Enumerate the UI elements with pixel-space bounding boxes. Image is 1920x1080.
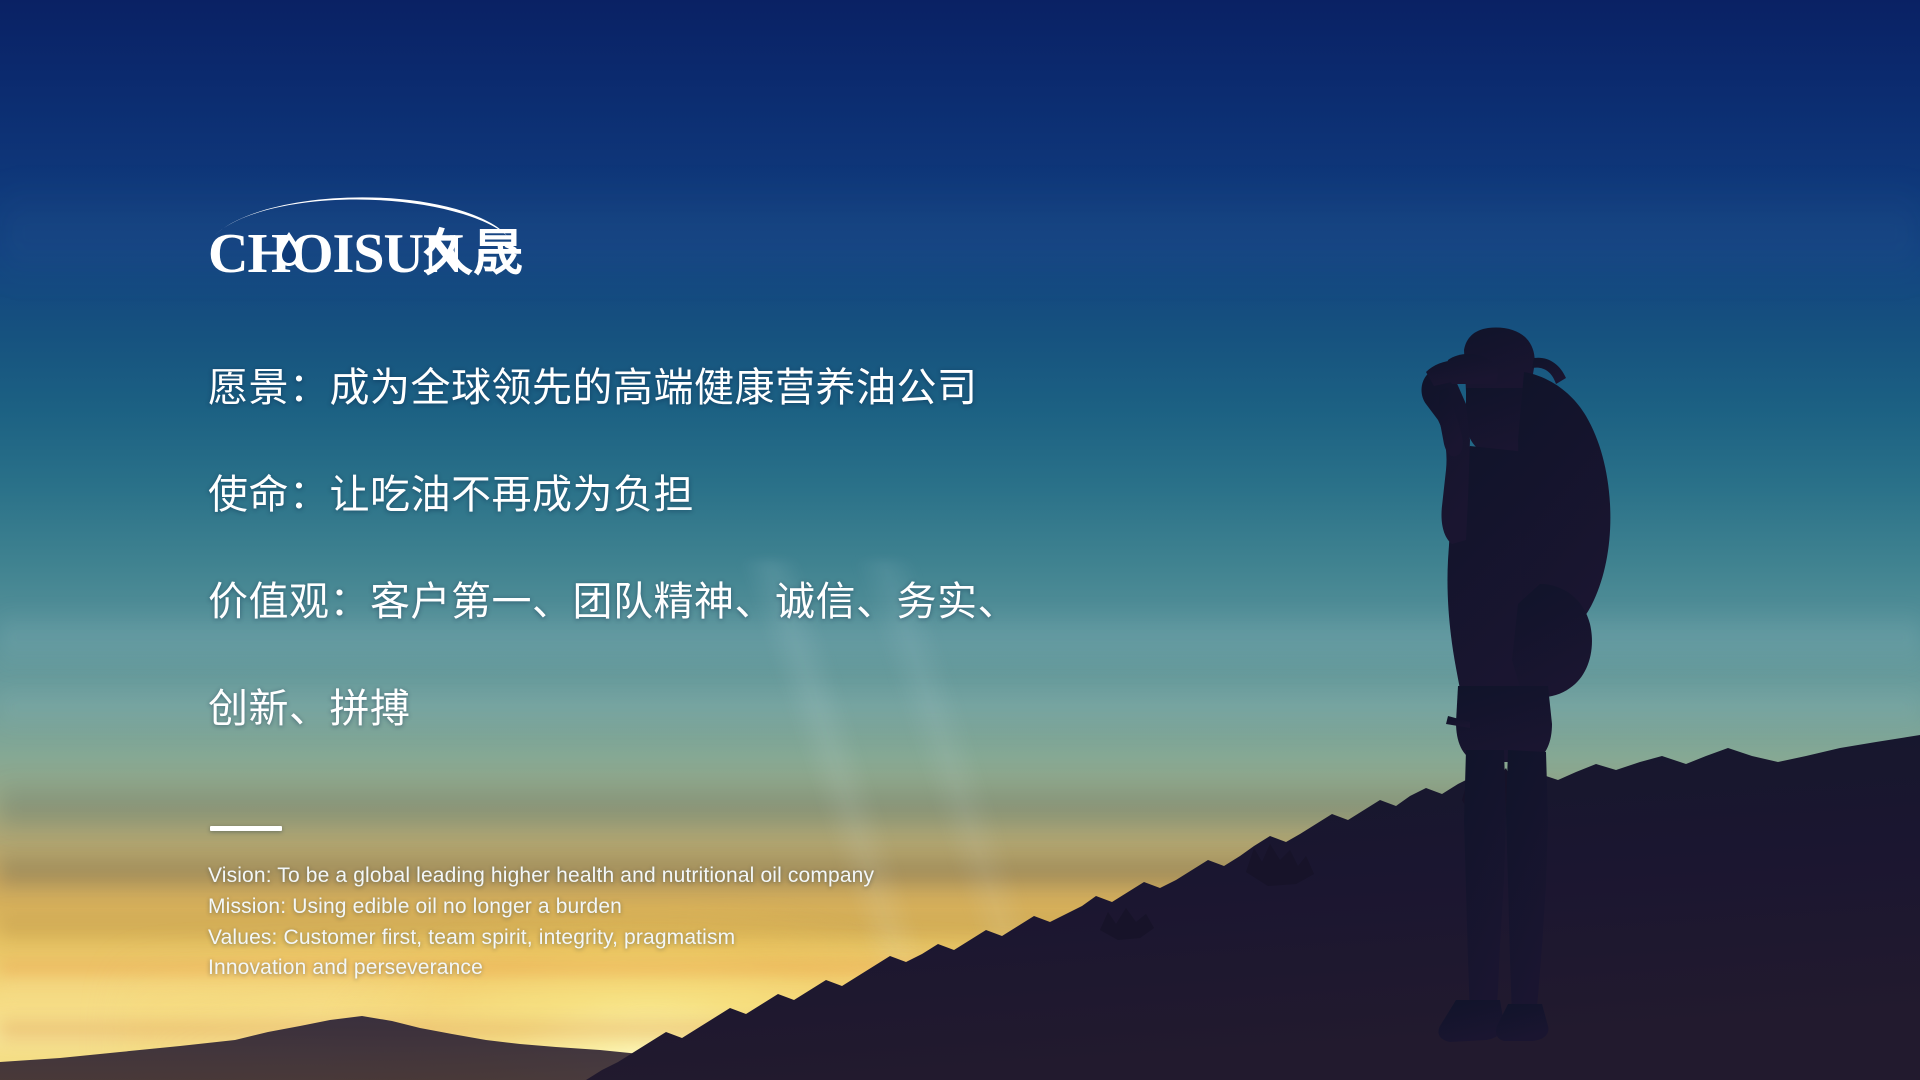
hero-content: CHOISUN 久晟 愿景：成为全球领先的高端健康营养油公司 使命：让吃油不再成… xyxy=(208,196,1228,984)
divider-rule xyxy=(210,826,282,831)
svg-text:久晟: 久晟 xyxy=(423,224,523,282)
subcopy-block: Vision: To be a global leading higher he… xyxy=(208,861,1228,984)
headline-block: 愿景：成为全球领先的高端健康营养油公司 使命：让吃油不再成为负担 价值观：客户第… xyxy=(208,308,1228,790)
headline-line-values-cont: 创新、拼搏 xyxy=(208,683,1228,737)
subcopy-line-innovation: Innovation and perseverance xyxy=(208,953,1228,984)
headline-line-values: 价值观：客户第一、团队精神、诚信、务实、 xyxy=(208,576,1228,630)
headline-line-mission: 使命：让吃油不再成为负担 xyxy=(208,469,1228,523)
subcopy-line-values: Values: Customer first, team spirit, int… xyxy=(208,923,1228,954)
headline-line-vision: 愿景：成为全球领先的高端健康营养油公司 xyxy=(208,362,1228,416)
hero-banner: CHOISUN 久晟 愿景：成为全球领先的高端健康营养油公司 使命：让吃油不再成… xyxy=(0,0,1920,1080)
subcopy-line-mission: Mission: Using edible oil no longer a bu… xyxy=(208,892,1228,923)
brand-logo[interactable]: CHOISUN 久晟 xyxy=(208,196,548,282)
subcopy-line-vision: Vision: To be a global leading higher he… xyxy=(208,861,1228,892)
